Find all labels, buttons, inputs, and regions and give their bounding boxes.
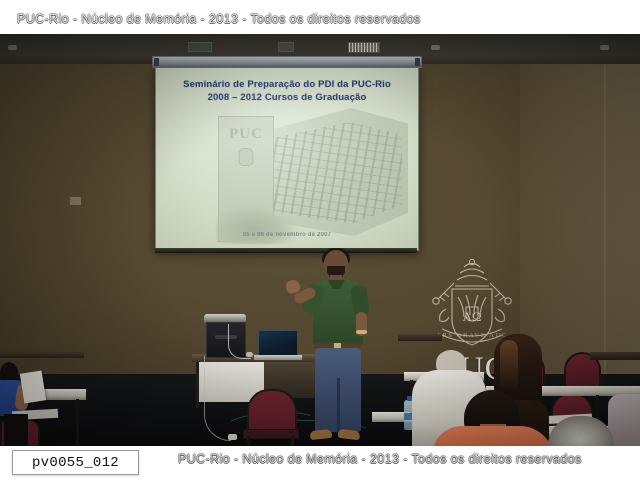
- hair-highlight: [500, 340, 518, 392]
- laptop-base: [254, 355, 302, 360]
- presenter-chair: [243, 389, 297, 441]
- equipment-cable: [228, 324, 251, 359]
- table-leg: [196, 362, 199, 408]
- audience-member-left: [0, 358, 60, 446]
- rear-desk: [398, 334, 442, 341]
- projector-screen-housing: [152, 56, 422, 68]
- wall-socket-icon: [70, 197, 81, 205]
- chair-leg: [291, 436, 294, 446]
- audience-member-orange-shirt: [432, 426, 554, 446]
- slide-title-line-1: Seminário de Preparação do PDI da PUC-Ri…: [156, 78, 418, 91]
- wall-corner: [604, 64, 606, 384]
- power-cable: [204, 356, 231, 441]
- ceiling-light-icon: [431, 45, 440, 50]
- svg-text:ARS GRAVE AUC: ARS GRAVE AUC: [436, 332, 508, 339]
- building-puc-lettering: PUC: [219, 126, 273, 143]
- svg-text:ΑΩ: ΑΩ: [462, 309, 481, 324]
- presenter-shoe: [310, 429, 333, 440]
- image-id-label: pv0055_012: [12, 450, 139, 475]
- slide-building-illustration: PUC: [218, 108, 408, 240]
- watermark-top: PUC-Rio - Núcleo de Memória - 2013 - Tod…: [17, 12, 421, 26]
- watermark-bottom: PUC-Rio - Núcleo de Memória - 2013 - Tod…: [178, 452, 582, 466]
- chair-leg: [247, 436, 250, 446]
- photograph: PUC Seminário de Preparação do PDI da PU…: [0, 34, 640, 446]
- cable-plug: [228, 434, 237, 440]
- left-desk-rear: [0, 351, 84, 358]
- screen-housing-cap: [154, 58, 159, 66]
- laptop-screen: [258, 330, 298, 358]
- person-legs: [4, 414, 28, 446]
- projector-screen: PUC Seminário de Preparação do PDI da PU…: [155, 65, 419, 251]
- slide-date: 05 e 06 de novembro de 2007: [156, 232, 418, 238]
- image-id-text: pv0055_012: [32, 455, 119, 471]
- ceiling-vent-icon: [188, 42, 212, 52]
- presenter-leg-split: [337, 378, 340, 432]
- presenter-wristwatch: [356, 330, 367, 334]
- slide-title: Seminário de Preparação do PDI da PUC-Ri…: [156, 78, 418, 104]
- ceiling-grille-icon: [348, 42, 380, 53]
- ceiling-vent-icon: [278, 42, 294, 52]
- ceiling-light-icon: [8, 45, 17, 50]
- slide-title-line-2: 2008 – 2012 Cursos de Graduação: [156, 91, 418, 104]
- building-crest-icon: [239, 148, 254, 166]
- screen-housing-cap: [415, 58, 420, 66]
- rear-desk: [590, 352, 640, 360]
- paper-sheet: [20, 370, 46, 403]
- ceiling-light-icon: [600, 45, 609, 50]
- photo-frame: PUC Seminário de Preparação do PDI da PU…: [0, 0, 640, 480]
- projected-slide: PUC Seminário de Preparação do PDI da PU…: [156, 66, 418, 250]
- desk-leg: [76, 399, 79, 446]
- presenter: [296, 250, 386, 446]
